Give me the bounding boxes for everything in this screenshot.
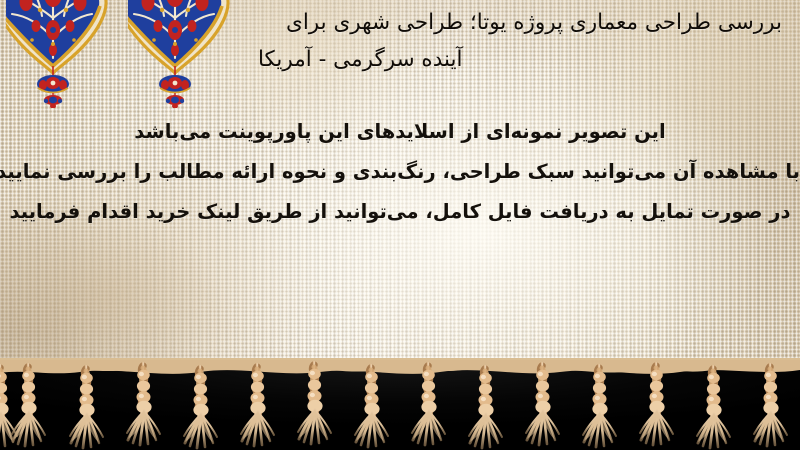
slide-title-line-2: آینده سرگرمی - آمریکا [222,41,782,78]
body-line-1: این تصویر نمونه‌ای از اسلایدهای این پاور… [0,112,800,152]
slide-canvas: بررسی طراحی معماری پروژه یوتا؛ طراحی شهر… [0,0,800,450]
bottom-black-band [0,366,800,450]
slide-title-line-1: بررسی طراحی معماری پروژه یوتا؛ طراحی شهر… [222,4,782,41]
slide-body-text: این تصویر نمونه‌ای از اسلایدهای این پاور… [0,112,800,232]
slide-title: بررسی طراحی معماری پروژه یوتا؛ طراحی شهر… [222,4,782,78]
body-line-3: در صورت تمایل به دریافت فایل کامل، می‌تو… [0,192,800,232]
carpet-medallion-icon [6,0,124,108]
body-line-2: با مشاهده آن می‌توانید سبک طراحی، رنگ‌بن… [0,152,800,192]
